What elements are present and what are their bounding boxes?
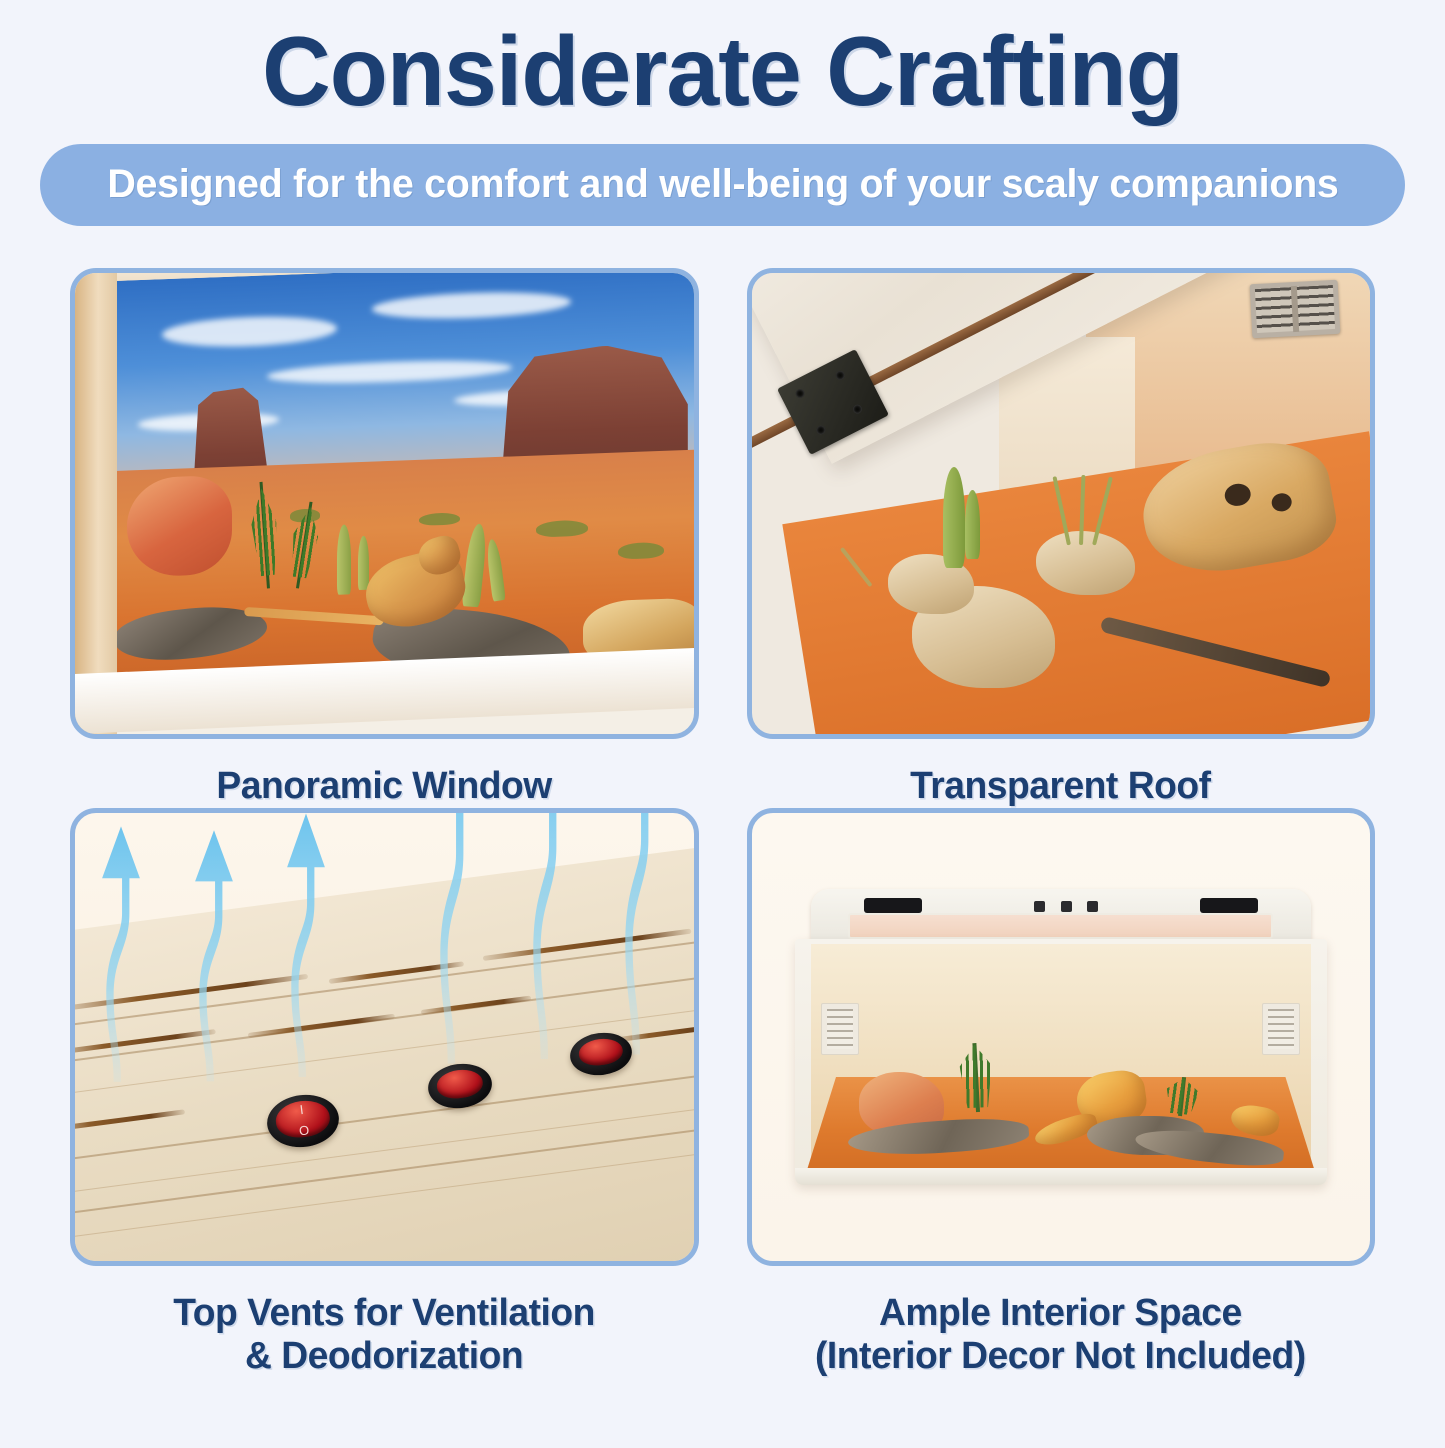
switch-off-mark: O — [298, 1123, 310, 1139]
lid-knob[interactable] — [1061, 901, 1072, 912]
feature-grid: Panoramic Window — [0, 268, 1445, 1448]
feature-cell-transparent-roof: Transparent Roof — [747, 268, 1376, 808]
terrarium-enclosure — [795, 889, 1327, 1185]
page-title: Considerate Crafting — [22, 18, 1424, 126]
switch-on-mark: I — [299, 1102, 304, 1117]
header: Considerate Crafting Designed for the co… — [0, 0, 1445, 226]
airflow-arrow-icon — [527, 808, 569, 1059]
caption-line-2: & Deodorization — [173, 1335, 595, 1378]
airflow-arrow-icon — [100, 822, 142, 1082]
hinge-screw — [851, 403, 863, 415]
caption-top-vents: Top Vents for Ventilation & Deodorizatio… — [173, 1292, 595, 1379]
caption-ample-interior: Ample Interior Space (Interior Decor Not… — [815, 1292, 1306, 1379]
hinge-screw — [834, 369, 846, 381]
caption-line-1: Transparent Roof — [911, 765, 1211, 807]
caption-line-1: Panoramic Window — [217, 765, 552, 807]
coral-decor — [127, 475, 232, 578]
lid-knob[interactable] — [1087, 901, 1098, 912]
feature-cell-panoramic-window: Panoramic Window — [70, 268, 699, 808]
lid-latch[interactable] — [1200, 898, 1258, 913]
caption-line-1: Top Vents for Ventilation — [173, 1292, 595, 1334]
cactus — [337, 524, 351, 595]
caption-line-2: (Interior Decor Not Included) — [815, 1335, 1306, 1378]
skull-eye — [1222, 482, 1251, 508]
photo-panoramic-window — [70, 268, 699, 739]
cactus — [943, 467, 965, 568]
feature-cell-top-vents: I O Top Vents for Ventilation & Deodoriz… — [70, 808, 699, 1448]
airflow-arrow-icon — [434, 808, 476, 1064]
cactus — [358, 536, 369, 590]
feature-cell-ample-interior: Ample Interior Space (Interior Decor Not… — [747, 808, 1376, 1448]
enclosure-base — [795, 1168, 1327, 1185]
grass-tuft — [1178, 1077, 1186, 1116]
side-vent-icon — [821, 1003, 859, 1055]
airflow-arrow-icon — [619, 808, 661, 1055]
photo-transparent-roof — [747, 268, 1376, 739]
terrarium-scene — [115, 268, 699, 694]
airflow-arrow-icon — [193, 826, 235, 1081]
cactus — [965, 490, 980, 559]
vent-grille-icon — [1250, 280, 1341, 339]
photo-top-vents: I O — [70, 808, 699, 1266]
caption-line-1: Ample Interior Space — [879, 1292, 1242, 1334]
glass-top-panel — [848, 913, 1274, 940]
caption-transparent-roof: Transparent Roof — [911, 765, 1211, 808]
subtitle-text: Designed for the comfort and well-being … — [107, 162, 1338, 207]
hinge-screw — [794, 388, 806, 400]
wood-left-frame — [75, 273, 117, 734]
photo-ample-interior — [747, 808, 1376, 1266]
hinge-screw — [814, 424, 826, 436]
subtitle-banner: Designed for the comfort and well-being … — [40, 144, 1405, 226]
caption-panoramic-window: Panoramic Window — [217, 765, 552, 808]
lid-knob[interactable] — [1034, 901, 1045, 912]
airflow-arrow-icon — [285, 809, 327, 1078]
side-vent-icon — [1262, 1003, 1300, 1055]
skull-eye — [1270, 492, 1293, 513]
fern-plant — [972, 1042, 980, 1111]
lid-latch[interactable] — [864, 898, 922, 913]
enclosure-body — [795, 939, 1327, 1184]
